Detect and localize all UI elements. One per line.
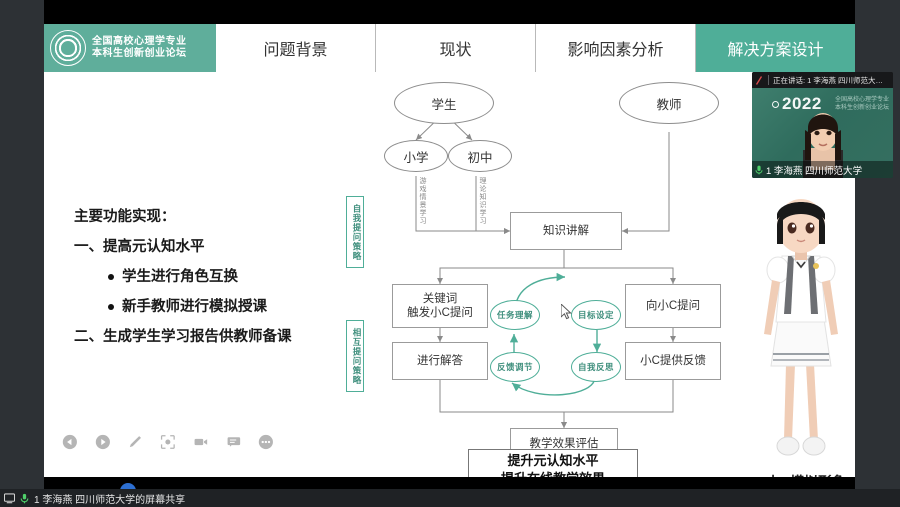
avatar-caption: 小C模拟形象 bbox=[716, 472, 855, 477]
node-keyword-trigger: 关键词 触发小C提问 bbox=[392, 284, 488, 328]
forum-seal-icon bbox=[50, 30, 86, 66]
node-teacher: 教师 bbox=[619, 82, 719, 124]
slide-header: 全国高校心理学专业 本科生创新创业论坛 问题背景 现状 影响因素分析 解决方案设… bbox=[44, 24, 855, 72]
topbar-divider bbox=[768, 75, 769, 85]
video-tile-body: 2022 全国高校心理学专业 本科生创新创业论坛 1 李海燕 四川师范大学 bbox=[752, 88, 893, 178]
outcome-line2: 提升在线教学效果 bbox=[501, 470, 605, 477]
node-ask-xiaoc: 向小C提问 bbox=[625, 284, 721, 328]
video-icon[interactable] bbox=[193, 433, 209, 451]
node-provide-answer: 进行解答 bbox=[392, 342, 488, 380]
forum-logo: 全国高校心理学专业 本科生创新创业论坛 bbox=[44, 24, 216, 72]
pen-annotate-icon[interactable] bbox=[127, 433, 143, 451]
overlay-ring-icon bbox=[772, 101, 779, 108]
overlay-banner-line1: 全国高校心理学专业 bbox=[825, 96, 889, 104]
chat-icon[interactable] bbox=[226, 433, 242, 451]
cycle-node-self-reflection: 自我反思 bbox=[571, 352, 621, 382]
node-student: 学生 bbox=[394, 82, 494, 124]
letterbox-bottom bbox=[44, 477, 855, 489]
more-options-icon[interactable] bbox=[258, 433, 274, 451]
participant-name: 1 李海燕 四川师范大学 bbox=[766, 163, 862, 177]
screen-share-icon bbox=[4, 493, 15, 504]
node-keyword-line2: 触发小C提问 bbox=[407, 306, 473, 320]
forum-logo-line1: 全国高校心理学专业 bbox=[92, 36, 187, 48]
video-tile-topbar: 正在讲话: 1 李海燕 四川师范大… bbox=[752, 72, 893, 88]
edge-label-game-scenario-learning: 游戏情景学习 bbox=[418, 177, 427, 225]
node-junior-high: 初中 bbox=[448, 140, 512, 172]
spotlight-icon[interactable] bbox=[160, 433, 176, 451]
speaking-status-text: 正在讲话: 1 李海燕 四川师范大… bbox=[773, 75, 883, 86]
cycle-node-feedback-regulation: 反馈调节 bbox=[490, 352, 540, 382]
mouse-cursor-icon bbox=[561, 304, 573, 320]
tab-current-status[interactable]: 现状 bbox=[376, 24, 536, 72]
screen-share-status-text: 1 李海燕 四川师范大学的屏幕共享 bbox=[34, 491, 185, 506]
microphone-icon bbox=[755, 165, 763, 175]
participant-video-tile[interactable]: 正在讲话: 1 李海燕 四川师范大… 2022 全国高校心理学专业 本科生创新创… bbox=[752, 72, 893, 178]
prev-slide-icon[interactable] bbox=[62, 433, 78, 451]
tab-factor-analysis[interactable]: 影响因素分析 bbox=[536, 24, 696, 72]
letterbox-top bbox=[44, 0, 855, 24]
outcome-line1: 提升元认知水平 bbox=[507, 452, 598, 470]
forum-logo-text: 全国高校心理学专业 本科生创新创业论坛 bbox=[92, 36, 187, 60]
node-primary-school: 小学 bbox=[384, 140, 448, 172]
tab-solution-design[interactable]: 解决方案设计 bbox=[696, 24, 855, 72]
screen-share-status-bar: 1 李海燕 四川师范大学的屏幕共享 bbox=[0, 489, 900, 507]
xiaoc-avatar-image bbox=[734, 194, 855, 477]
next-slide-icon[interactable] bbox=[95, 433, 111, 451]
outcome-box: 提升元认知水平 提升在线教学效果 bbox=[468, 449, 638, 477]
forum-logo-line2: 本科生创新创业论坛 bbox=[92, 48, 187, 60]
node-knowledge-explanation: 知识讲解 bbox=[510, 212, 622, 250]
node-xiaoc-feedback: 小C提供反馈 bbox=[625, 342, 721, 380]
annotation-toolbar[interactable] bbox=[54, 424, 274, 460]
participant-name-bar: 1 李海燕 四川师范大学 bbox=[752, 161, 893, 178]
cycle-node-goal-setting: 目标设定 bbox=[571, 300, 621, 330]
node-keyword-line1: 关键词 bbox=[423, 292, 458, 306]
shared-slide: 全国高校心理学专业 本科生创新创业论坛 问题背景 现状 影响因素分析 解决方案设… bbox=[44, 24, 855, 477]
edge-label-theory-knowledge-learning: 理论知识学习 bbox=[478, 177, 487, 225]
cycle-node-task-understanding: 任务理解 bbox=[490, 300, 540, 330]
microphone-icon bbox=[19, 493, 30, 504]
tab-problem-background[interactable]: 问题背景 bbox=[216, 24, 376, 72]
speaking-waves-icon bbox=[755, 75, 764, 86]
